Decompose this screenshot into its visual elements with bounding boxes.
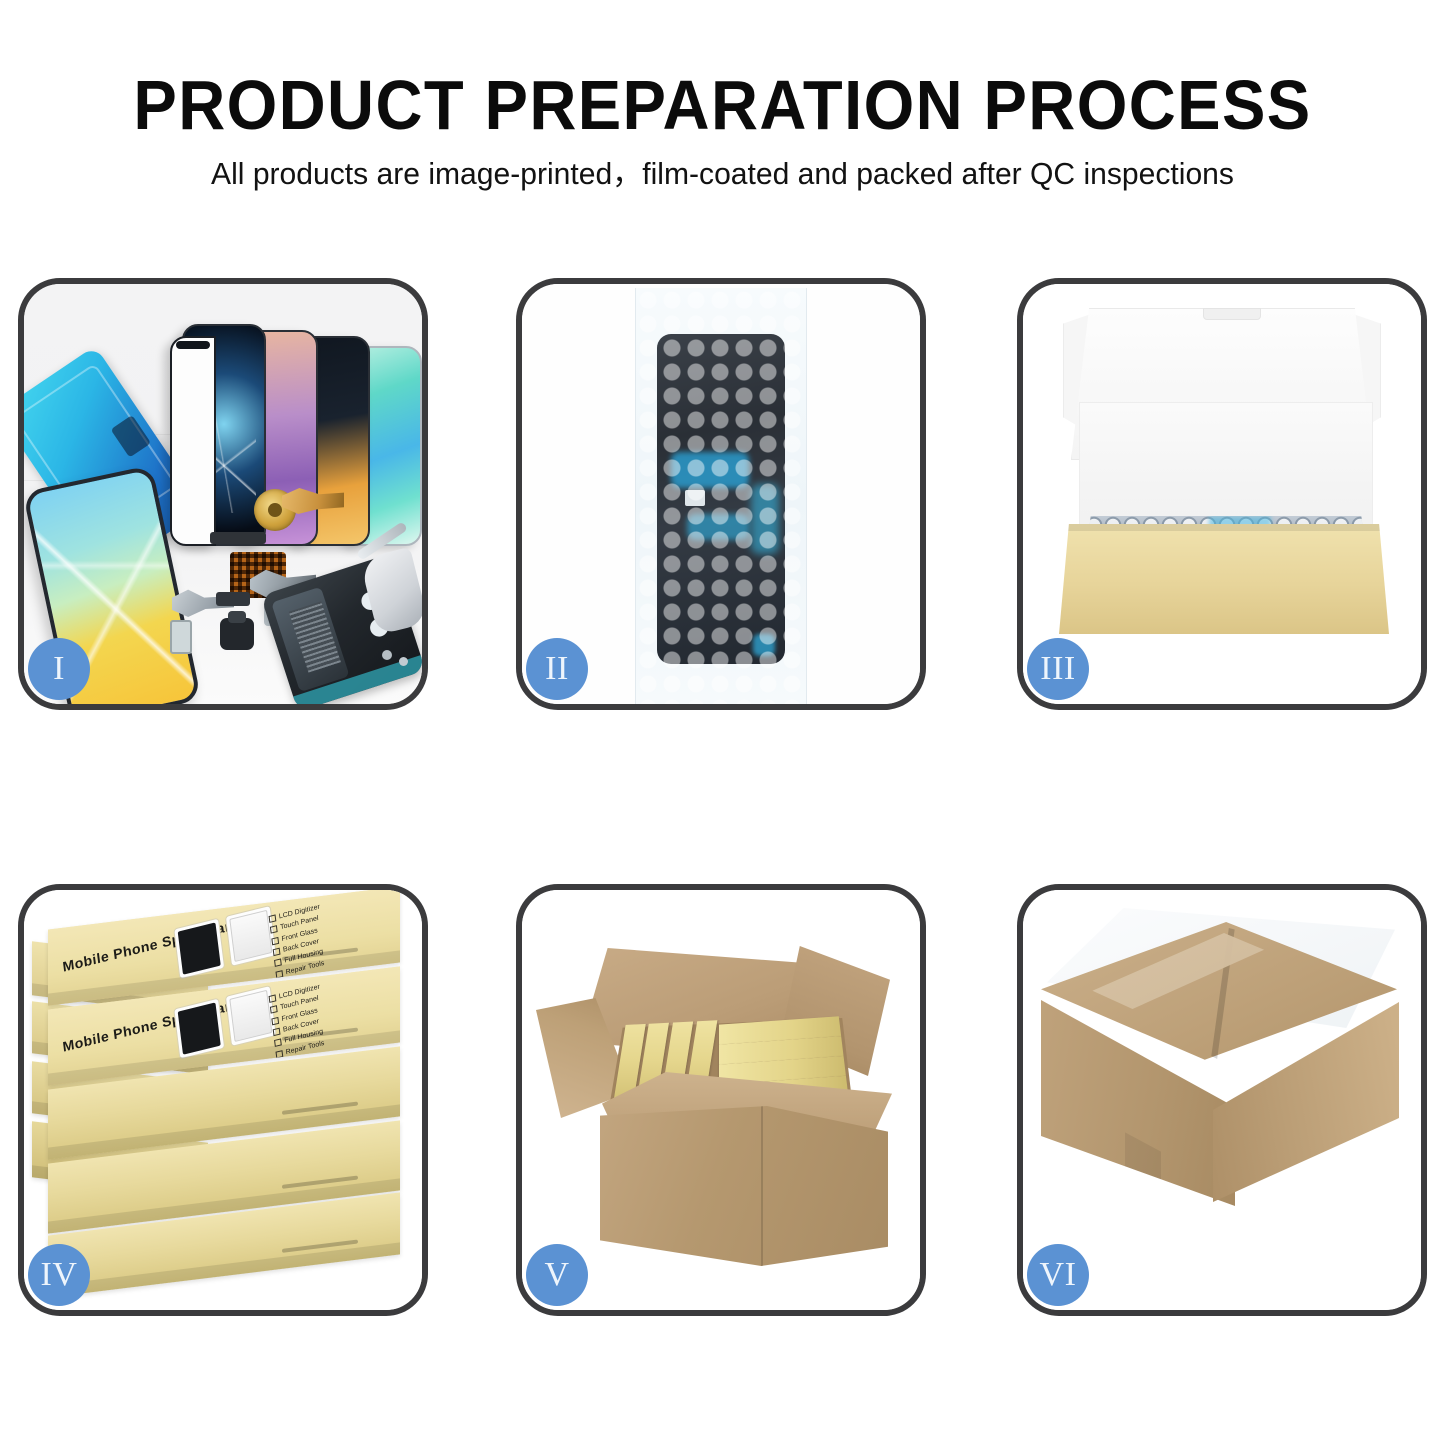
- phone-parts-scene: [24, 284, 422, 704]
- bubble-texture: [636, 288, 806, 704]
- process-step-1-panel[interactable]: I: [18, 278, 428, 710]
- bubble-wrap-scene: [522, 284, 920, 704]
- step-badge-3: III: [1027, 638, 1089, 700]
- process-step-5-panel[interactable]: V: [516, 884, 926, 1316]
- process-step-4-panel[interactable]: Mobile Phone Spare Parts LCD Digitizer T…: [18, 884, 428, 1316]
- retail-box-stack: Mobile Phone Spare Parts LCD Digitizer T…: [24, 890, 422, 1310]
- screw-icon: [399, 657, 408, 666]
- step-badge-5: V: [526, 1244, 588, 1306]
- process-step-6-panel[interactable]: VI: [1017, 884, 1427, 1316]
- mailer-lid-tab: [1203, 308, 1261, 320]
- mailer-back-wall: [1079, 402, 1373, 536]
- step-badge-6: VI: [1027, 1244, 1089, 1306]
- screen-thumb-black: [173, 998, 225, 1060]
- mailer-box-body: [1059, 524, 1389, 634]
- process-panel-grid: I II III: [0, 0, 1445, 1445]
- bubble-wrap-sleeve: [635, 288, 807, 704]
- screen-thumb-black: [173, 918, 225, 980]
- sealed-carton-scene: [1023, 890, 1421, 1310]
- mailer-box-scene: [1023, 284, 1421, 704]
- step-badge-2: II: [526, 638, 588, 700]
- process-step-2-panel[interactable]: II: [516, 278, 926, 710]
- taptic-engine-part-icon: [216, 592, 250, 606]
- phone-front-glass: [170, 336, 216, 546]
- step-badge-4: IV: [28, 1244, 90, 1306]
- sim-tray-part-icon: [170, 620, 192, 654]
- screw-icon: [382, 650, 392, 660]
- speaker-part-icon: [210, 532, 266, 544]
- open-carton-scene: [522, 890, 920, 1310]
- camera-module-part-icon: [220, 618, 254, 650]
- process-step-3-panel[interactable]: III: [1017, 278, 1427, 710]
- step-badge-1: I: [28, 638, 90, 700]
- box-stack-scene: Mobile Phone Spare Parts LCD Digitizer T…: [24, 890, 422, 1310]
- carton-body: [600, 1106, 888, 1266]
